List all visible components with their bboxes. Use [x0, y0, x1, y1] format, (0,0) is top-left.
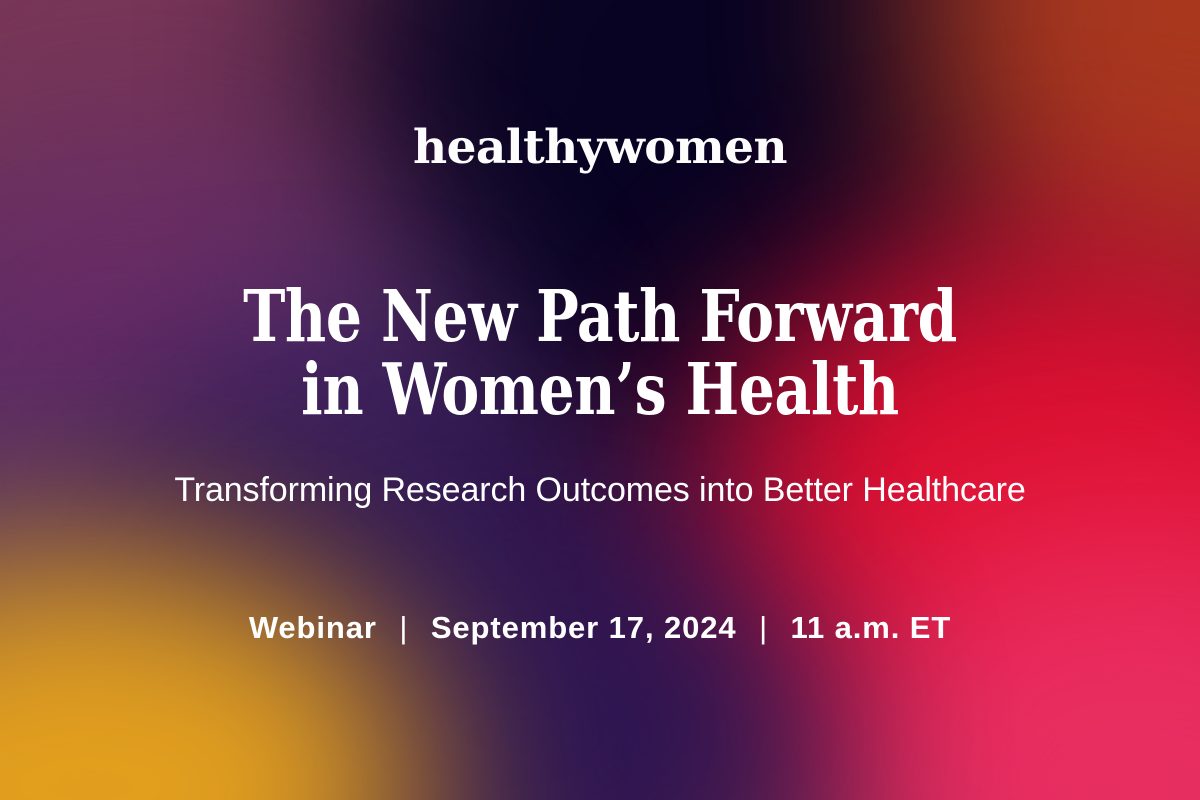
event-details: Webinar | September 17, 2024 | 11 a.m. E… [0, 611, 1200, 645]
event-date: September 17, 2024 [431, 610, 737, 645]
healthywomen-logo: healthywomen [0, 124, 1200, 171]
event-separator-1: | [386, 611, 421, 645]
page-title-line-1: The New Path Forward [120, 280, 1080, 353]
page-title: The New Path Forward in Women’s Health [120, 280, 1080, 426]
page-subtitle: Transforming Research Outcomes into Bett… [0, 472, 1200, 509]
event-separator-2: | [746, 611, 781, 645]
promo-content: healthywomen The New Path Forward in Wom… [0, 0, 1200, 800]
page-title-line-2: in Women’s Health [120, 353, 1080, 426]
event-format: Webinar [249, 610, 377, 645]
event-time: 11 a.m. ET [791, 610, 952, 645]
promo-banner: healthywomen The New Path Forward in Wom… [0, 0, 1200, 800]
